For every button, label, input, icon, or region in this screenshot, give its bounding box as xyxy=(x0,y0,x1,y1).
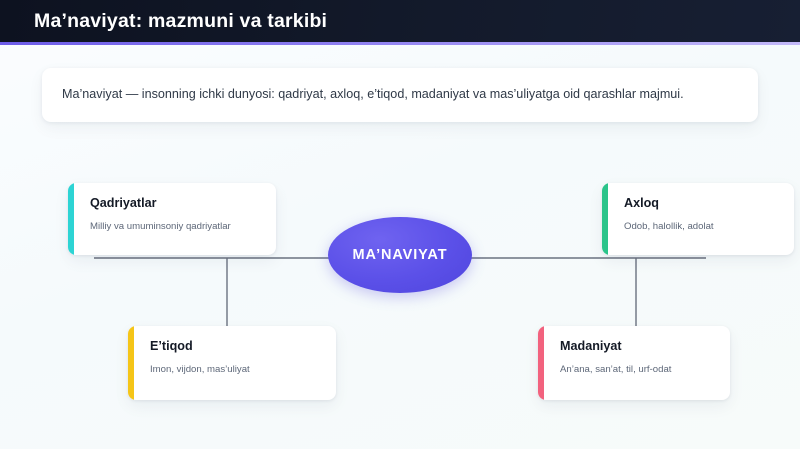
node-subtitle: Odob, halollik, adolat xyxy=(624,221,778,234)
node-title: Axloq xyxy=(624,196,778,210)
diagram-canvas: MA’NAVIYAT Qadriyatlar Milliy va umumins… xyxy=(0,150,800,449)
description-text: Ma’naviyat — insonning ichki dunyosi: qa… xyxy=(62,84,738,104)
header-accent-rule xyxy=(0,42,800,45)
node-subtitle: Imon, vijdon, mas’uliyat xyxy=(150,364,320,377)
central-node[interactable]: MA’NAVIYAT xyxy=(328,217,472,293)
node-title: Madaniyat xyxy=(560,339,714,353)
node-title: E’tiqod xyxy=(150,339,320,353)
node-content: Madaniyat An’ana, san’at, til, urf-odat xyxy=(544,326,730,400)
slide: Ma’naviyat: mazmuni va tarkibi Ma’naviya… xyxy=(0,0,800,449)
node-etiqod[interactable]: E’tiqod Imon, vijdon, mas’uliyat xyxy=(128,326,336,400)
node-content: E’tiqod Imon, vijdon, mas’uliyat xyxy=(134,326,336,400)
central-node-label: MA’NAVIYAT xyxy=(353,247,448,263)
node-subtitle: An’ana, san’at, til, urf-odat xyxy=(560,364,714,377)
slide-header: Ma’naviyat: mazmuni va tarkibi xyxy=(0,0,800,42)
node-axloq[interactable]: Axloq Odob, halollik, adolat xyxy=(602,183,794,255)
node-madaniyat[interactable]: Madaniyat An’ana, san’at, til, urf-odat xyxy=(538,326,730,400)
node-content: Qadriyatlar Milliy va umuminsoniy qadriy… xyxy=(74,183,276,255)
page-title: Ma’naviyat: mazmuni va tarkibi xyxy=(34,10,327,33)
node-qadriyatlar[interactable]: Qadriyatlar Milliy va umuminsoniy qadriy… xyxy=(68,183,276,255)
node-title: Qadriyatlar xyxy=(90,196,260,210)
description-card: Ma’naviyat — insonning ichki dunyosi: qa… xyxy=(42,68,758,122)
node-content: Axloq Odob, halollik, adolat xyxy=(608,183,794,255)
node-subtitle: Milliy va umuminsoniy qadriyatlar xyxy=(90,221,260,234)
